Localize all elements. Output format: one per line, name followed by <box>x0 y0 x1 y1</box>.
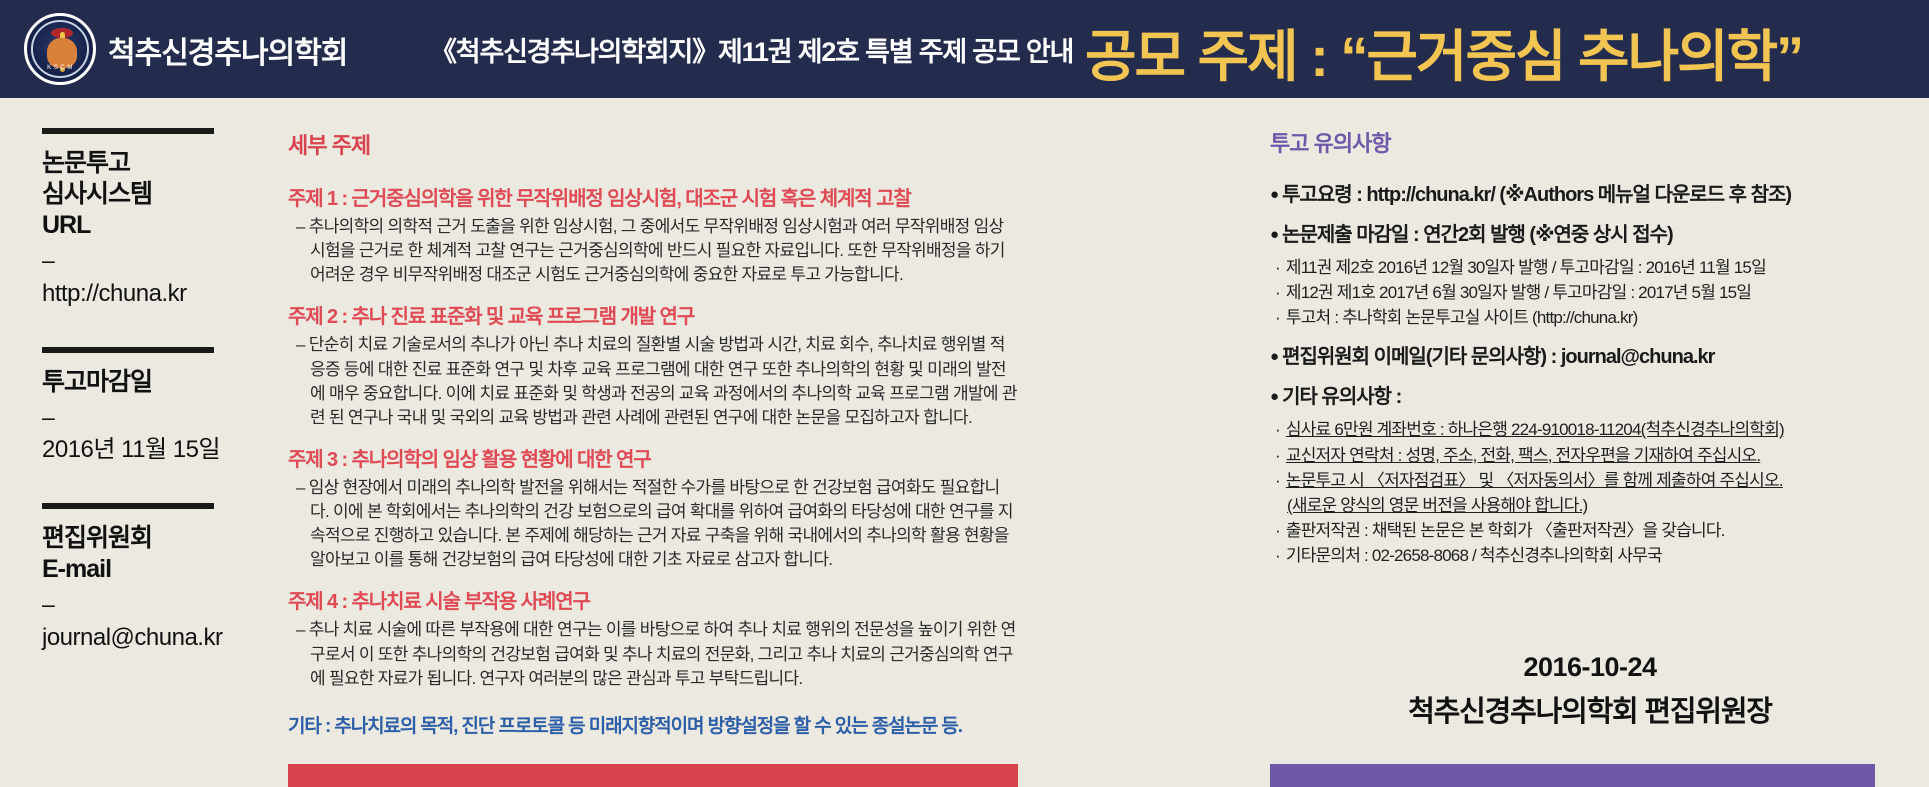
footer-bar-purple <box>1270 764 1875 787</box>
topic-body: – 임상 현장에서 미래의 추나의학 발전을 위해서는 적절한 수가를 바탕으로… <box>288 476 1018 573</box>
topic-heading: 주제 4 : 추나치료 시술 부작용 사례연구 <box>288 585 1018 614</box>
sidebar-block-value[interactable]: http://chuna.kr <box>42 278 247 309</box>
society-logo: K S C M <box>24 13 96 85</box>
topic-body: – 추나 치료 시술에 따른 부작용에 대한 연구는 이를 바탕으로 하여 추나… <box>288 618 1018 690</box>
sidebar-block: 투고마감일–2016년 11월 15일 <box>42 347 247 466</box>
notice-bullet: 편집위원회 이메일(기타 문의사항) : journal@chuna.kr <box>1270 344 1910 370</box>
sidebar-block-value[interactable]: journal@chuna.kr <box>42 622 247 653</box>
notice-bullet: 기타 유의사항 : <box>1270 384 1910 410</box>
topic-item: 주제 2 : 추나 진료 표준화 및 교육 프로그램 개발 연구– 단순히 치료… <box>288 300 1018 430</box>
topic-body: – 단순히 치료 기술로서의 추나가 아닌 추나 치료의 질환별 시술 방법과 … <box>288 333 1018 430</box>
logo-hand-icon <box>47 38 77 68</box>
notice-sub-text: 심사료 6만원 계좌번호 : 하나은행 224-910018-11204(척추신… <box>1286 420 1784 439</box>
sidebar-block-dash: – <box>42 587 247 622</box>
notice-sub-text: 기타문의처 : 02-2658-8068 / 척추신경추나의학회 사무국 <box>1286 546 1662 565</box>
logo-emblem: K S C M <box>31 20 89 78</box>
notice-sub-text: 제11권 제2호 2016년 12월 30일자 발행 / 투고마감일 : 201… <box>1286 258 1766 277</box>
notice-sub-item: 제12권 제1호 2017년 6월 30일자 발행 / 투고마감일 : 2017… <box>1270 280 1910 305</box>
notice-sub-text: 투고처 : 추나학회 논문투고실 사이트 (http://chuna.kr) <box>1286 308 1638 327</box>
sidebar-block-title: 논문투고심사시스템URL <box>42 148 247 241</box>
topic-item: 주제 3 : 추나의학의 임상 활용 현황에 대한 연구– 임상 현장에서 미래… <box>288 443 1018 573</box>
sidebar-rule <box>42 128 214 134</box>
main-heading: 세부 주제 <box>288 128 1018 160</box>
notice-sub-item: 논문투고 시 〈저자점검표〉 및 〈저자동의서〉를 함께 제출하여 주십시오. <box>1270 468 1910 493</box>
notice-sub-item: 교신저자 연락처 : 성명, 주소, 전화, 팩스, 전자우편을 기재하여 주십… <box>1270 443 1910 468</box>
notice-sub-text: 교신저자 연락처 : 성명, 주소, 전화, 팩스, 전자우편을 기재하여 주십… <box>1286 446 1760 465</box>
sidebar-rule <box>42 347 214 353</box>
notice-list: 투고요령 : http://chuna.kr/ (※Authors 메뉴얼 다운… <box>1270 182 1910 568</box>
notice-sub-item: 출판저작권 : 채택된 논문은 본 학회가 〈출판저작권〉을 갖습니다. <box>1270 518 1910 543</box>
notice-column: 투고 유의사항 투고요령 : http://chuna.kr/ (※Author… <box>1270 126 1910 568</box>
signature-date: 2016-10-24 <box>1270 652 1910 683</box>
sidebar-block-dash: – <box>42 400 247 435</box>
notice-bullet: 논문제출 마감일 : 연간2회 발행 (※연중 상시 접수) <box>1270 222 1910 248</box>
notice-sub-text: 제12권 제1호 2017년 6월 30일자 발행 / 투고마감일 : 2017… <box>1286 283 1751 302</box>
header-subtitle: 《척추신경추나의학회지》제11권 제2호 특별 주제 공모 안내 <box>430 30 1073 69</box>
sidebar-block-dash: – <box>42 243 247 278</box>
main-column: 세부 주제 주제 1 : 근거중심의학을 위한 무작위배정 임상시험, 대조군 … <box>288 128 1018 738</box>
topic-heading: 주제 3 : 추나의학의 임상 활용 현황에 대한 연구 <box>288 443 1018 472</box>
notice-sub-item: 심사료 6만원 계좌번호 : 하나은행 224-910018-11204(척추신… <box>1270 417 1910 442</box>
topic-list: 주제 1 : 근거중심의학을 위한 무작위배정 임상시험, 대조군 시험 혹은 … <box>288 182 1018 691</box>
etc-note: 기타 : 추나치료의 목적, 진단 프로토콜 등 미래지향적이며 방향설정을 할… <box>288 711 1018 738</box>
notice-heading: 투고 유의사항 <box>1270 126 1910 158</box>
signature-org: 척추신경추나의학회 편집위원장 <box>1270 688 1910 730</box>
footer-bar-red <box>288 764 1018 787</box>
notice-sub-item: 제11권 제2호 2016년 12월 30일자 발행 / 투고마감일 : 201… <box>1270 255 1910 280</box>
notice-sub-item: 기타문의처 : 02-2658-8068 / 척추신경추나의학회 사무국 <box>1270 543 1910 568</box>
topic-heading: 주제 2 : 추나 진료 표준화 및 교육 프로그램 개발 연구 <box>288 300 1018 329</box>
notice-sub-continuation: (새로운 양식의 영문 버전을 사용해야 합니다.) <box>1270 493 1910 518</box>
notice-sub-item: 투고처 : 추나학회 논문투고실 사이트 (http://chuna.kr) <box>1270 305 1910 330</box>
sidebar-block-title: 편집위원회E-mail <box>42 523 247 585</box>
sidebar-block: 논문투고심사시스템URL–http://chuna.kr <box>42 128 247 309</box>
notice-sub-text: 출판저작권 : 채택된 논문은 본 학회가 〈출판저작권〉을 갖습니다. <box>1286 521 1725 540</box>
sidebar-block-value[interactable]: 2016년 11월 15일 <box>42 434 247 465</box>
topic-body: – 추나의학의 의학적 근거 도출을 위한 임상시험, 그 중에서도 무작위배정… <box>288 215 1018 287</box>
logo-acronym: K S C M <box>33 65 87 71</box>
notice-bullet: 투고요령 : http://chuna.kr/ (※Authors 메뉴얼 다운… <box>1270 182 1910 208</box>
page-header: K S C M 척추신경추나의학회 《척추신경추나의학회지》제11권 제2호 특… <box>0 0 1929 98</box>
sidebar-rule <box>42 503 214 509</box>
society-name: 척추신경추나의학회 <box>108 28 347 72</box>
sidebar: 논문투고심사시스템URL–http://chuna.kr투고마감일–2016년 … <box>42 128 247 691</box>
sidebar-block-title: 투고마감일 <box>42 367 247 398</box>
notice-sub-continuation-text: (새로운 양식의 영문 버전을 사용해야 합니다.) <box>1287 496 1587 515</box>
notice-sub-text: 논문투고 시 〈저자점검표〉 및 〈저자동의서〉를 함께 제출하여 주십시오. <box>1286 471 1783 490</box>
topic-heading: 주제 1 : 근거중심의학을 위한 무작위배정 임상시험, 대조군 시험 혹은 … <box>288 182 1018 211</box>
header-main-title: 공모 주제 : “근거중심 추나의학” <box>1085 12 1802 93</box>
topic-item: 주제 4 : 추나치료 시술 부작용 사례연구– 추나 치료 시술에 따른 부작… <box>288 585 1018 690</box>
topic-item: 주제 1 : 근거중심의학을 위한 무작위배정 임상시험, 대조군 시험 혹은 … <box>288 182 1018 287</box>
sidebar-block: 편집위원회E-mail–journal@chuna.kr <box>42 503 247 653</box>
signature-block: 2016-10-24 척추신경추나의학회 편집위원장 <box>1270 652 1910 730</box>
